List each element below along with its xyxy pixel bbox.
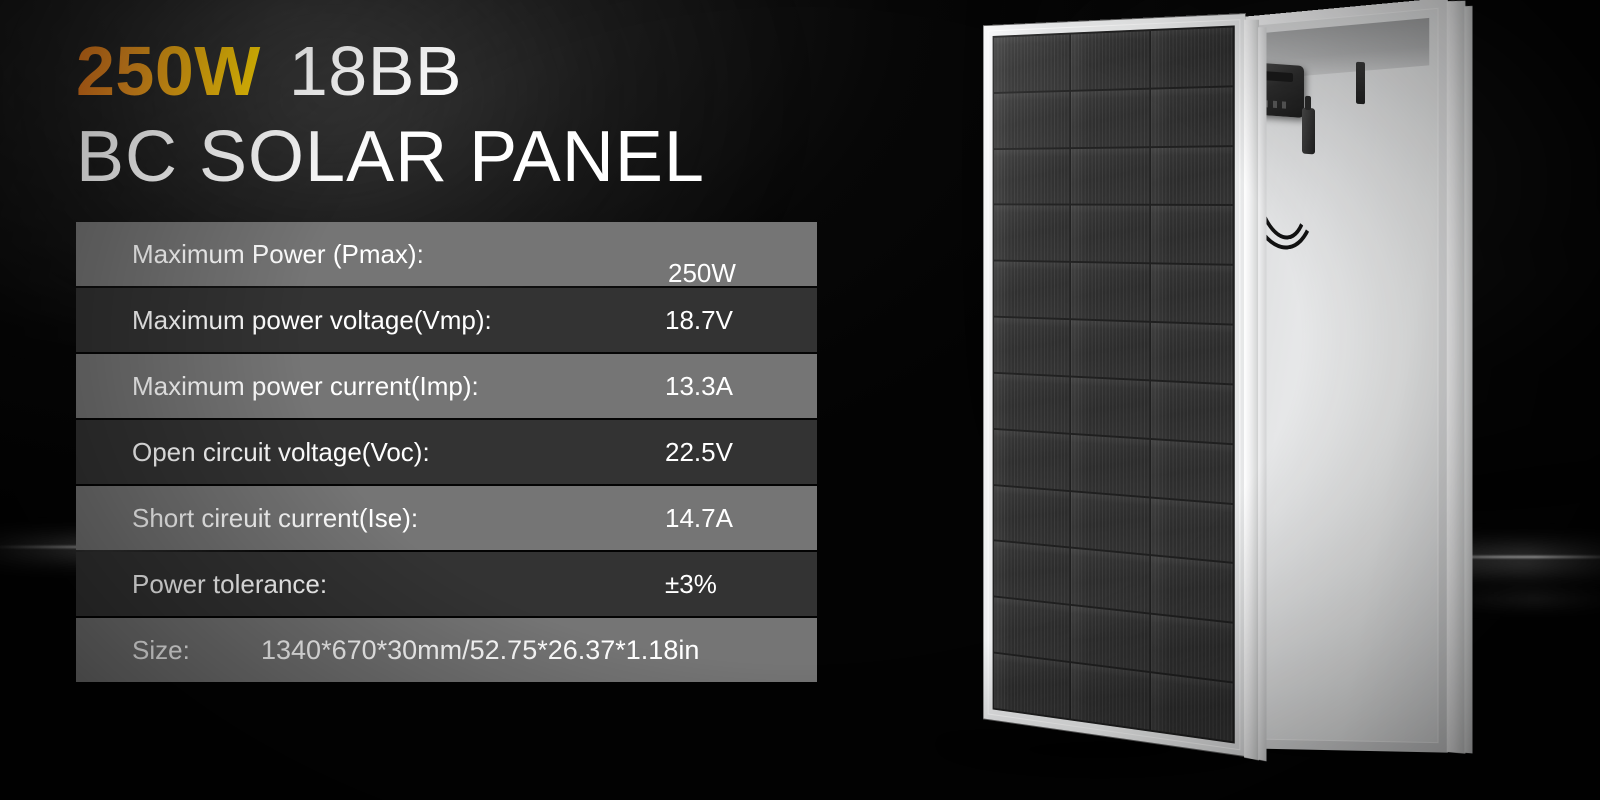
background-vignette	[0, 0, 1600, 800]
product-banner: 250W18BB BC SOLAR PANEL Maximum Power (P…	[0, 0, 1600, 800]
